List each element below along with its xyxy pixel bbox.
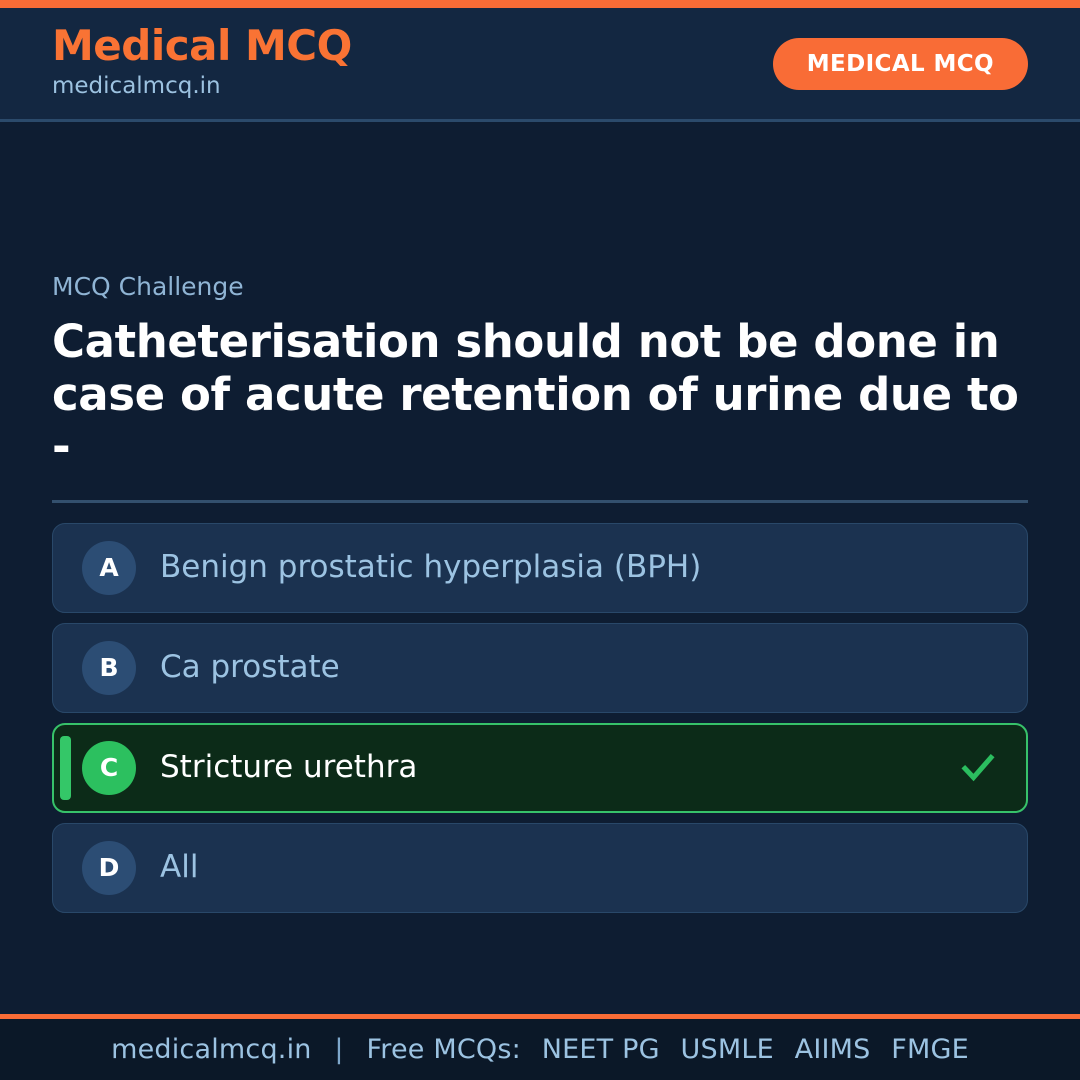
footer-exam-aiims: AIIMS — [783, 1034, 871, 1065]
option-d-text: All — [160, 849, 999, 886]
question-text: Catheterisation should not be done in ca… — [52, 316, 1028, 474]
footer-exam-fmge: FMGE — [879, 1034, 969, 1065]
option-d[interactable]: D All — [52, 823, 1028, 913]
footer-site: medicalmcq.in — [111, 1034, 312, 1065]
options-list: A Benign prostatic hyperplasia (BPH) B C… — [52, 523, 1028, 913]
correct-accent-bar — [60, 736, 71, 800]
header: Medical MCQ medicalmcq.in MEDICAL MCQ — [0, 8, 1080, 122]
footer-text: medicalmcq.in | Free MCQs: NEET PG USMLE… — [111, 1034, 969, 1065]
main-content: MCQ Challenge Catheterisation should not… — [0, 122, 1080, 1014]
footer-label: Free MCQs: — [367, 1034, 521, 1065]
question-divider — [52, 500, 1028, 503]
footer-separator: | — [320, 1034, 357, 1065]
option-b-text: Ca prostate — [160, 649, 999, 686]
option-c-letter: C — [82, 741, 136, 795]
option-a-letter: A — [82, 541, 136, 595]
brand-subtitle: medicalmcq.in — [52, 70, 352, 102]
check-icon — [958, 748, 998, 788]
footer: medicalmcq.in | Free MCQs: NEET PG USMLE… — [0, 1014, 1080, 1080]
option-c[interactable]: C Stricture urethra — [52, 723, 1028, 813]
top-accent-bar — [0, 0, 1080, 8]
brand-block: Medical MCQ medicalmcq.in — [52, 24, 352, 102]
option-a[interactable]: A Benign prostatic hyperplasia (BPH) — [52, 523, 1028, 613]
option-b[interactable]: B Ca prostate — [52, 623, 1028, 713]
header-badge: MEDICAL MCQ — [773, 38, 1028, 90]
mcq-card: Medical MCQ medicalmcq.in MEDICAL MCQ MC… — [0, 0, 1080, 1080]
footer-exam-neet-pg: NEET PG — [530, 1034, 660, 1065]
option-d-letter: D — [82, 841, 136, 895]
footer-exam-usmle: USMLE — [669, 1034, 774, 1065]
option-a-text: Benign prostatic hyperplasia (BPH) — [160, 549, 999, 586]
kicker-label: MCQ Challenge — [52, 272, 1028, 302]
brand-title: Medical MCQ — [52, 24, 352, 68]
option-c-text: Stricture urethra — [160, 749, 958, 786]
option-b-letter: B — [82, 641, 136, 695]
